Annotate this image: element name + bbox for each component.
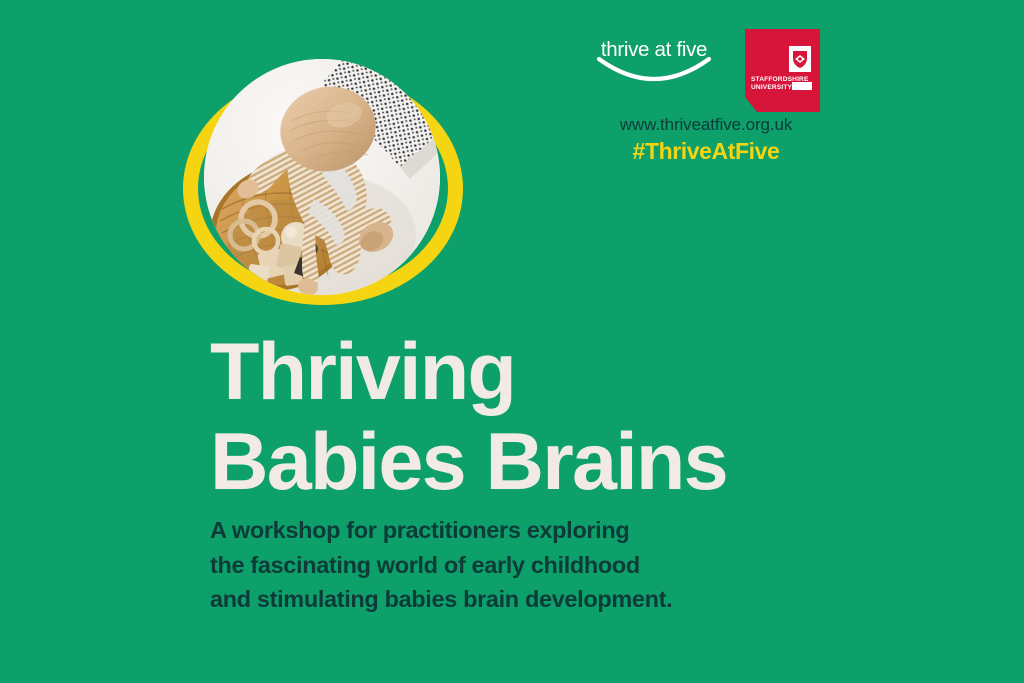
- hashtag[interactable]: #ThriveAtFive: [576, 137, 836, 165]
- promo-poster: thrive at five STAFFORDSHIRE UNIVERSITY …: [0, 0, 1024, 683]
- headline-line-1: Thriving: [210, 327, 910, 417]
- website-url[interactable]: www.thriveatfive.org.uk: [576, 114, 836, 136]
- page-title: Thriving Babies Brains: [210, 327, 910, 507]
- subtitle-line-1: A workshop for practitioners exploring: [210, 513, 910, 548]
- baby-photo-illustration: [204, 59, 440, 295]
- subtitle-line-3: and stimulating babies brain development…: [210, 582, 910, 617]
- staffordshire-knot-crest-icon: [789, 46, 811, 72]
- staffs-name-line2: UNIVERSITY: [751, 84, 792, 91]
- subtitle-line-2: the fascinating world of early childhood: [210, 548, 910, 583]
- staffs-university-name: STAFFORDSHIRE UNIVERSITY: [751, 76, 813, 93]
- subtitle: A workshop for practitioners exploring t…: [210, 513, 910, 617]
- staffs-name-line1: STAFFORDSHIRE: [751, 76, 809, 83]
- baby-photo: [204, 59, 440, 295]
- staffordshire-university-logo: STAFFORDSHIRE UNIVERSITY: [745, 29, 820, 112]
- contact-block: www.thriveatfive.org.uk #ThriveAtFive: [576, 114, 836, 165]
- smile-swoosh-icon: [594, 55, 714, 87]
- headline-line-2: Babies Brains: [210, 417, 910, 507]
- thrive-at-five-logo: thrive at five: [578, 38, 730, 88]
